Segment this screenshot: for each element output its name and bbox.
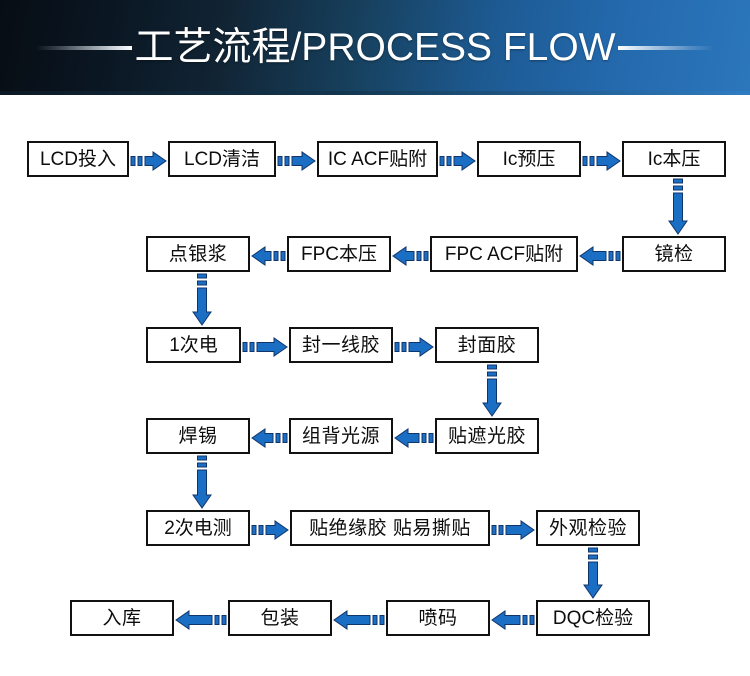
process-node-label: Ic预压: [503, 150, 556, 169]
process-node-n16: 2次电测: [146, 510, 250, 546]
flow-arrow-left-n19-to-n20: [492, 609, 534, 631]
flow-arrow-down-n5-to-n6: [665, 179, 691, 234]
process-node-label: 点银浆: [169, 245, 228, 264]
flow-arrow-right-n3-to-n4: [440, 150, 475, 172]
flow-arrow-down-n9-to-n10: [189, 274, 215, 325]
process-node-n9: 点银浆: [146, 236, 250, 272]
process-node-n13: 贴遮光胶: [435, 418, 539, 454]
process-node-n2: LCD清洁: [168, 141, 276, 177]
process-node-label: DQC检验: [553, 609, 633, 628]
process-node-n7: FPC ACF贴附: [430, 236, 578, 272]
process-node-n3: IC ACF贴附: [317, 141, 438, 177]
flow-arrow-down-n15-to-n16: [189, 456, 215, 508]
process-node-n12: 封面胶: [435, 327, 539, 363]
process-node-n17: 贴绝缘胶 贴易撕贴: [290, 510, 490, 546]
process-node-n1: LCD投入: [27, 141, 129, 177]
process-node-label: 2次电测: [164, 519, 232, 538]
flow-arrow-down-n18-to-n19: [580, 548, 606, 598]
process-node-n8: FPC本压: [287, 236, 391, 272]
process-node-label: IC ACF贴附: [328, 150, 427, 169]
process-node-n15: 焊锡: [146, 418, 250, 454]
process-node-label: Ic本压: [648, 150, 701, 169]
flow-arrow-right-n2-to-n3: [278, 150, 315, 172]
process-flow-page: 工艺流程/PROCESS FLOW LCD投入LCD清洁IC ACF贴附Ic预压…: [0, 0, 750, 676]
process-node-n22: 入库: [70, 600, 174, 636]
process-node-n5: Ic本压: [622, 141, 726, 177]
process-node-label: 组背光源: [302, 427, 380, 446]
flow-arrow-left-n13-to-n14: [395, 427, 433, 449]
flow-arrow-left-n21-to-n22: [176, 609, 226, 631]
process-node-label: 封一线胶: [302, 336, 380, 355]
process-node-n11: 封一线胶: [289, 327, 393, 363]
banner-bottom-edge: [0, 91, 750, 95]
process-node-n18: 外观检验: [536, 510, 640, 546]
flow-arrow-left-n8-to-n9: [252, 245, 285, 267]
process-node-n14: 组背光源: [289, 418, 393, 454]
process-node-label: 喷码: [418, 609, 457, 628]
process-node-n6: 镜检: [622, 236, 726, 272]
process-node-label: 焊锡: [178, 427, 217, 446]
header-banner: 工艺流程/PROCESS FLOW: [0, 0, 750, 95]
process-node-n10: 1次电: [146, 327, 241, 363]
process-node-label: 入库: [102, 609, 141, 628]
flow-arrow-left-n20-to-n21: [334, 609, 384, 631]
flow-arrow-left-n14-to-n15: [252, 427, 287, 449]
page-title: 工艺流程/PROCESS FLOW: [134, 27, 615, 69]
process-node-label: LCD清洁: [184, 150, 260, 169]
process-node-label: 贴绝缘胶 贴易撕贴: [309, 519, 471, 538]
process-node-n4: Ic预压: [477, 141, 581, 177]
flow-arrow-right-n11-to-n12: [395, 336, 433, 358]
flow-arrow-right-n1-to-n2: [131, 150, 166, 172]
header-banner-content: 工艺流程/PROCESS FLOW: [0, 0, 750, 95]
process-node-n20: 喷码: [386, 600, 490, 636]
process-node-label: 封面胶: [458, 336, 517, 355]
flow-arrow-right-n4-to-n5: [583, 150, 620, 172]
flow-arrow-right-n16-to-n17: [252, 519, 288, 541]
process-node-label: FPC本压: [301, 245, 377, 264]
process-node-label: 1次电: [169, 336, 218, 355]
process-node-label: FPC ACF贴附: [445, 245, 563, 264]
process-node-n19: DQC检验: [536, 600, 650, 636]
banner-left-rule: [36, 46, 132, 50]
flow-arrow-right-n10-to-n11: [243, 336, 287, 358]
flow-arrow-left-n6-to-n7: [580, 245, 620, 267]
process-node-label: LCD投入: [40, 150, 116, 169]
process-node-label: 外观检验: [549, 519, 627, 538]
process-node-n21: 包装: [228, 600, 332, 636]
process-node-label: 镜检: [654, 245, 693, 264]
process-node-label: 贴遮光胶: [448, 427, 526, 446]
banner-right-rule: [618, 46, 714, 50]
flow-arrow-left-n7-to-n8: [393, 245, 428, 267]
flow-arrow-down-n12-to-n13: [479, 365, 505, 416]
flow-arrow-right-n17-to-n18: [492, 519, 534, 541]
process-node-label: 包装: [260, 609, 299, 628]
